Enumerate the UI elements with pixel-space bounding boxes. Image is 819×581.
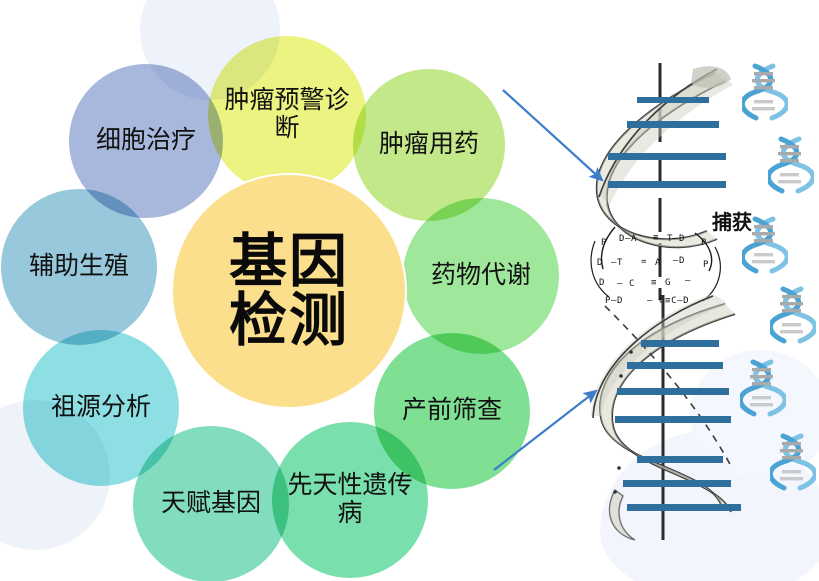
svg-text:≡: ≡: [653, 233, 659, 243]
mini-dna-helix-icon: [740, 358, 786, 423]
capture-label-text: 捕获: [712, 212, 752, 234]
center-circle-label: 基因检测: [214, 232, 364, 350]
capture-text-label: 捕获: [712, 206, 752, 235]
petal-label-drug-metabolism: 药物代谢: [421, 262, 541, 290]
petal-label-talent-gene: 天赋基因: [151, 490, 271, 518]
petal-label-ancestry-analysis: 祖源分析: [41, 394, 161, 422]
svg-text:P: P: [701, 238, 707, 248]
mini-dna-helix-icon: [768, 135, 814, 200]
svg-text:G: G: [665, 278, 671, 288]
petal-circle-assisted-reproduction[interactable]: 辅助生殖: [0, 187, 159, 347]
svg-text:=: =: [641, 257, 647, 267]
svg-text:—D: —D: [673, 256, 685, 266]
petal-label-congenital-disease: 先天性遗传病: [272, 472, 428, 528]
petal-label-prenatal-screening: 产前筛查: [392, 397, 512, 425]
svg-text:—: —: [685, 276, 691, 286]
svg-text:D–A: D–A: [619, 234, 637, 244]
svg-text:—T: —T: [611, 258, 623, 268]
svg-text:— C: — C: [617, 279, 635, 289]
petal-label-cell-therapy: 细胞治疗: [86, 127, 206, 155]
petal-circle-drug-metabolism[interactable]: 药物代谢: [401, 196, 561, 356]
petal-circle-tumor-early-warning[interactable]: 肿瘤预警诊断: [206, 34, 368, 196]
petal-circle-congenital-disease[interactable]: 先天性遗传病: [270, 420, 430, 580]
svg-text:A: A: [655, 258, 661, 268]
diagram-canvas: 细胞治疗肿瘤预警诊断肿瘤用药药物代谢产前筛查先天性遗传病天赋基因祖源分析辅助生殖…: [0, 0, 819, 581]
petal-label-assisted-reproduction: 辅助生殖: [19, 253, 139, 281]
svg-text:P: P: [601, 238, 607, 248]
dna-helix-upper-illustration: PD–A≡T–DP D—T=A—DP D— C≡G— P–D– G≡C–D: [575, 55, 745, 305]
svg-text:P: P: [703, 260, 709, 270]
petal-label-tumor-medication: 肿瘤用药: [369, 131, 489, 159]
mini-dna-helix-icon: [742, 62, 788, 127]
mini-dna-helix-icon: [770, 432, 816, 497]
svg-text:D: D: [599, 278, 605, 288]
mini-dna-helix-icon: [770, 285, 816, 350]
center-circle-genetic-testing[interactable]: 基因检测: [171, 173, 407, 409]
petal-label-tumor-early-warning: 肿瘤预警诊断: [208, 87, 366, 143]
svg-text:T–D: T–D: [667, 234, 685, 244]
dna-helix-lower-illustration: [575, 290, 755, 550]
svg-text:D: D: [597, 258, 603, 268]
svg-text:≡: ≡: [651, 278, 657, 288]
petal-circle-ancestry-analysis[interactable]: 祖源分析: [21, 328, 181, 488]
